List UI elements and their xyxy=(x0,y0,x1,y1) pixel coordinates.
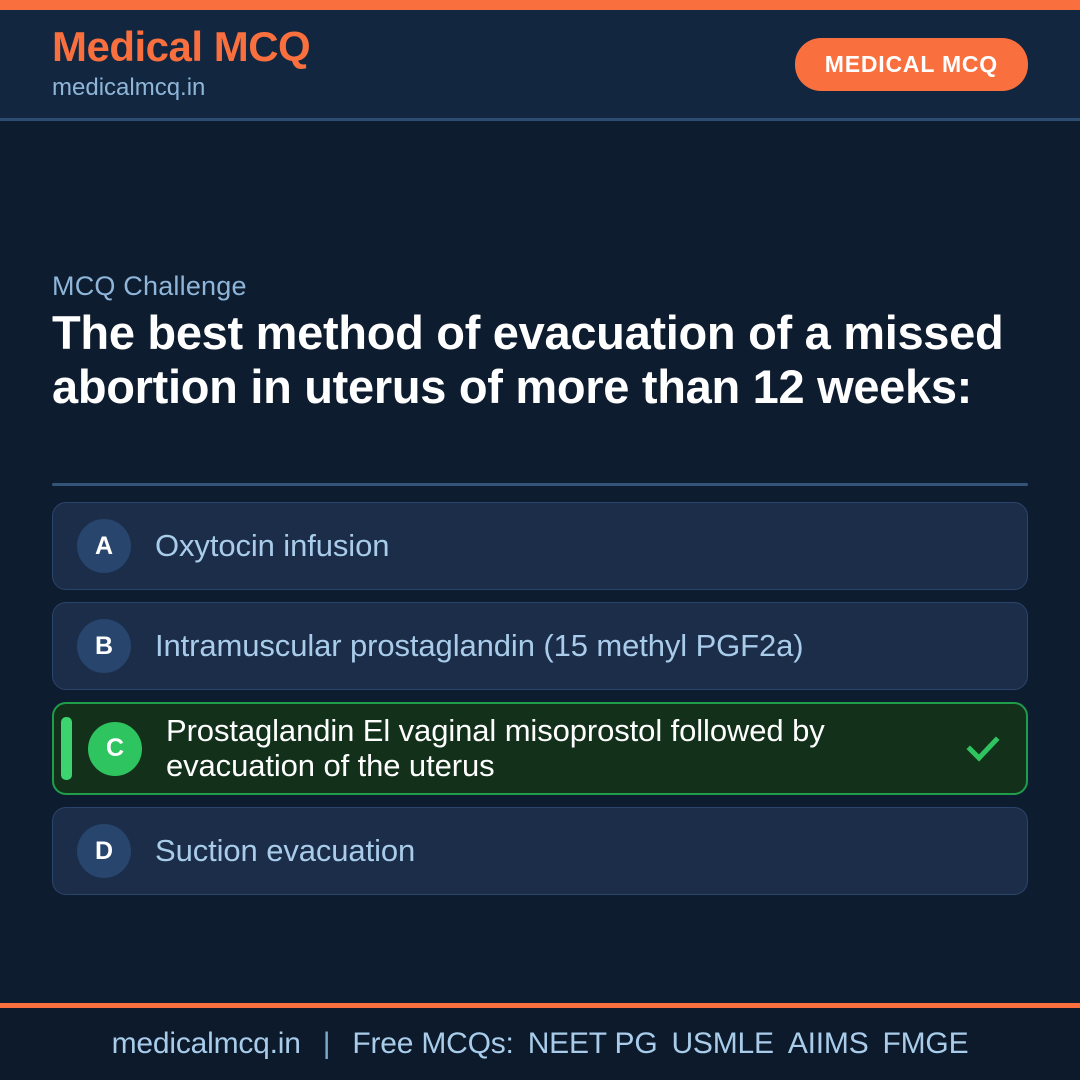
option-text-c: Prostaglandin El vaginal misoprostol fol… xyxy=(166,714,946,783)
main-content: MCQ Challenge The best method of evacuat… xyxy=(0,121,1080,1003)
brand-subtitle: medicalmcq.in xyxy=(52,73,310,103)
footer-tag-usmle[interactable]: USMLE xyxy=(671,1027,773,1061)
page-header: Medical MCQ medicalmcq.in MEDICAL MCQ xyxy=(0,10,1080,121)
footer-separator: | xyxy=(315,1027,339,1061)
section-divider xyxy=(52,483,1028,486)
mcq-card: Medical MCQ medicalmcq.in MEDICAL MCQ MC… xyxy=(0,0,1080,1080)
top-accent-bar xyxy=(0,0,1080,10)
option-text-a: Oxytocin infusion xyxy=(155,529,1005,564)
question-text: The best method of evacuation of a misse… xyxy=(52,306,1028,413)
question-label: MCQ Challenge xyxy=(52,271,247,302)
options-list: A Oxytocin infusion B Intramuscular pros… xyxy=(52,502,1028,895)
option-letter-c: C xyxy=(88,722,142,776)
option-row-c[interactable]: C Prostaglandin El vaginal misoprostol f… xyxy=(52,702,1028,795)
footer-tag-fmge[interactable]: FMGE xyxy=(883,1027,969,1061)
option-row-b[interactable]: B Intramuscular prostaglandin (15 methyl… xyxy=(52,602,1028,690)
footer-content: medicalmcq.in | Free MCQs: NEET PG USMLE… xyxy=(112,1027,969,1061)
footer-site[interactable]: medicalmcq.in xyxy=(112,1027,301,1061)
footer-tag-neet-pg[interactable]: NEET PG xyxy=(528,1027,658,1061)
option-row-a[interactable]: A Oxytocin infusion xyxy=(52,502,1028,590)
option-row-d[interactable]: D Suction evacuation xyxy=(52,807,1028,895)
check-icon xyxy=(962,728,1004,770)
option-letter-d: D xyxy=(77,824,131,878)
header-badge[interactable]: MEDICAL MCQ xyxy=(795,38,1028,91)
footer-tag-aiims[interactable]: AIIMS xyxy=(788,1027,869,1061)
option-letter-b: B xyxy=(77,619,131,673)
brand-title: Medical MCQ xyxy=(52,25,310,69)
option-letter-a: A xyxy=(77,519,131,573)
brand-block: Medical MCQ medicalmcq.in xyxy=(52,25,310,102)
option-text-d: Suction evacuation xyxy=(155,834,1005,869)
page-footer: medicalmcq.in | Free MCQs: NEET PG USMLE… xyxy=(0,1003,1080,1080)
correct-accent-bar xyxy=(61,717,72,780)
footer-prefix: Free MCQs: xyxy=(352,1027,513,1061)
option-text-b: Intramuscular prostaglandin (15 methyl P… xyxy=(155,629,1005,664)
